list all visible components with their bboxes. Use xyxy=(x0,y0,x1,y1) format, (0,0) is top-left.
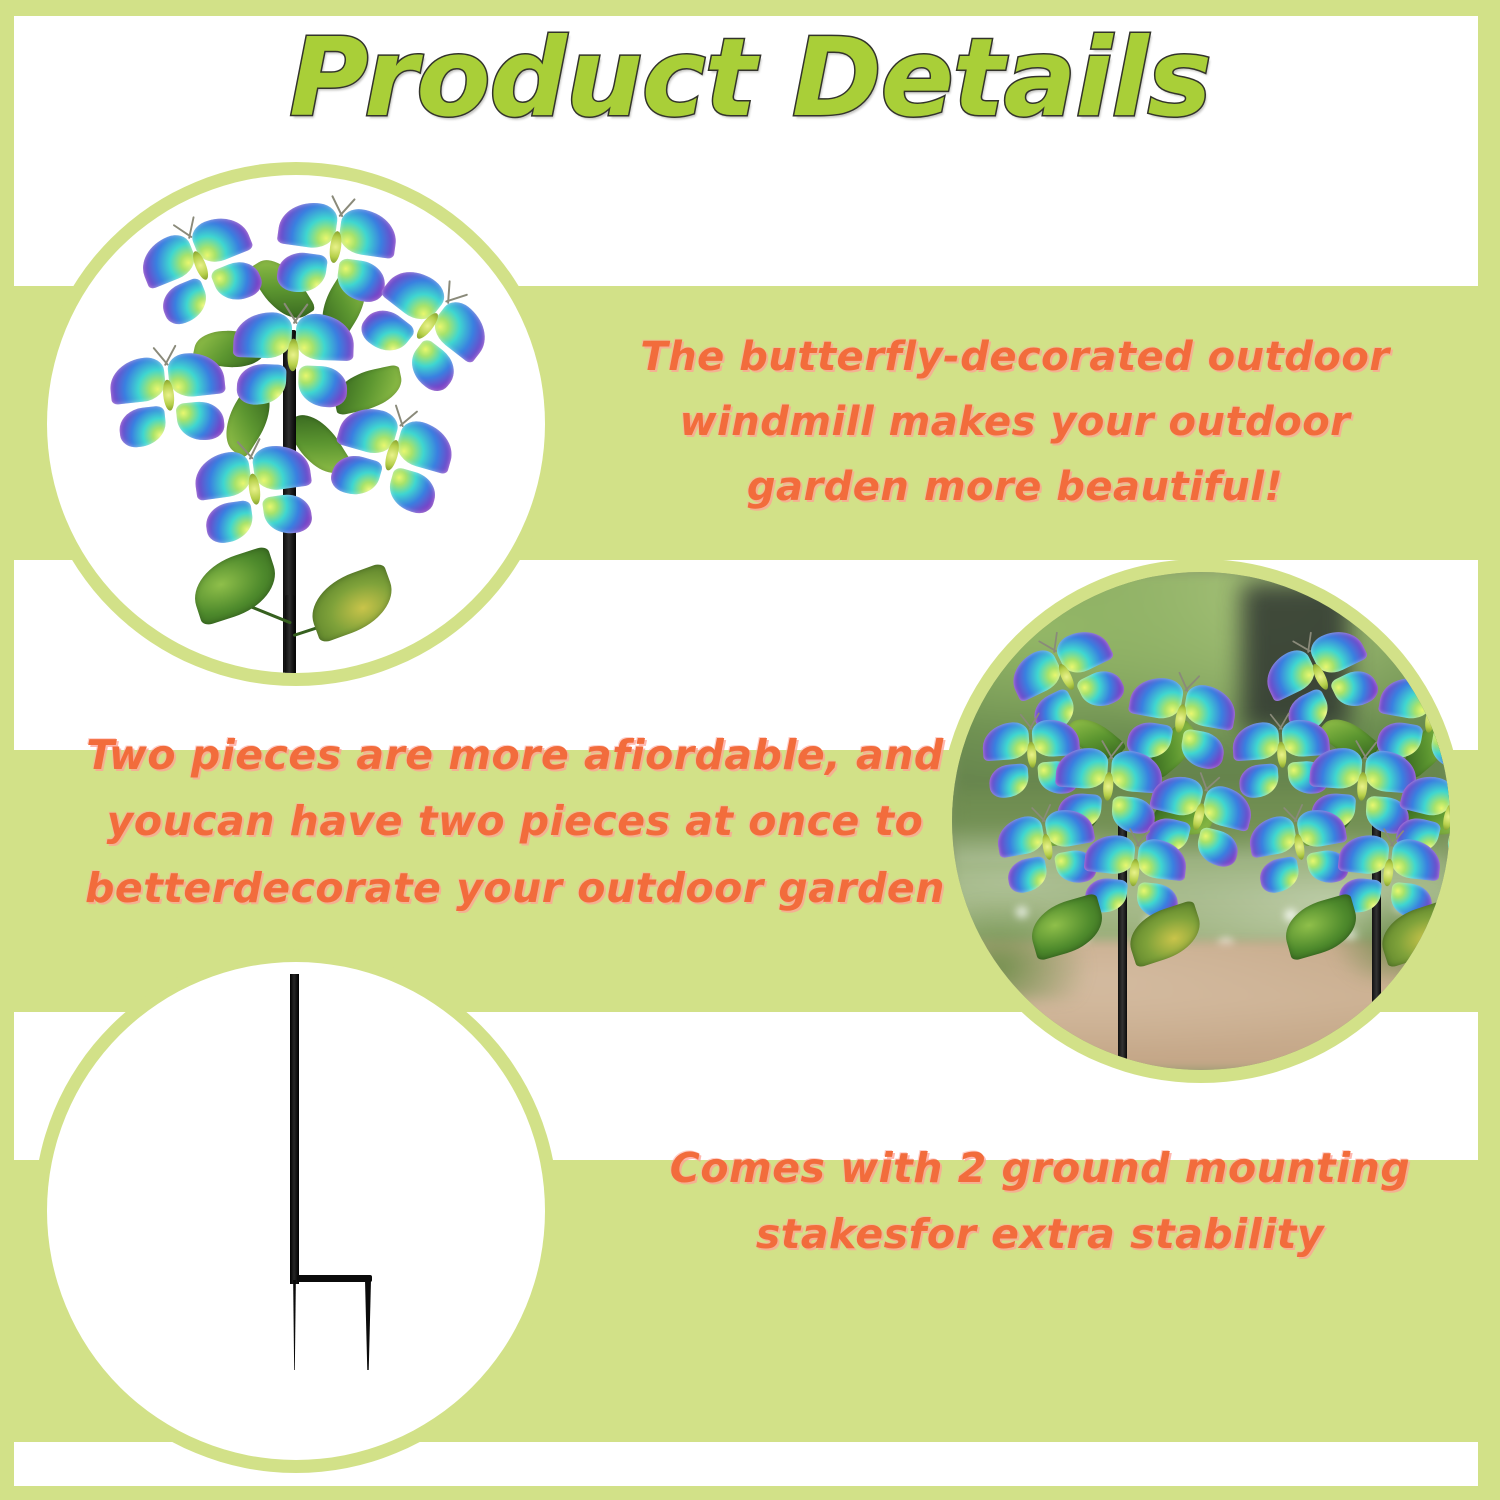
butterfly-wing xyxy=(251,441,312,492)
butterfly-body xyxy=(1356,771,1368,800)
butterfly xyxy=(322,399,460,518)
product-photo-windmill xyxy=(47,175,545,673)
butterfly-wing xyxy=(1084,832,1137,876)
butterfly-wing xyxy=(1246,814,1298,858)
feature-text-windmill: The butterfly-decorated outdoor windmill… xyxy=(600,325,1430,519)
product-photo-mounting-stake xyxy=(47,962,545,1460)
butterfly xyxy=(230,310,356,408)
butterfly-wing xyxy=(1338,832,1391,876)
butterfly-wing xyxy=(297,365,347,407)
butterfly-wing xyxy=(203,500,255,545)
lifestyle-photo-garden xyxy=(952,572,1450,1070)
feature-text-stakes: Comes with 2 ground mounting stakesfor e… xyxy=(640,1135,1440,1268)
butterfly-wing xyxy=(233,311,293,359)
butterfly-body xyxy=(287,338,299,371)
butterfly-wing xyxy=(337,207,400,259)
butterfly xyxy=(190,440,319,546)
butterfly-wing xyxy=(157,276,214,328)
butterfly-wing xyxy=(166,350,226,399)
butterfly-wing xyxy=(108,356,168,405)
butterfly-wing xyxy=(1005,856,1049,895)
butterfly-wing xyxy=(988,763,1030,798)
butterfly-wing xyxy=(295,313,355,361)
windmill-illustration xyxy=(47,175,545,673)
product-details-page: Product Details xyxy=(0,0,1500,1500)
butterfly-wing xyxy=(1136,838,1189,882)
butterfly-wing xyxy=(994,814,1046,858)
lower-leaf xyxy=(302,562,402,644)
page-border-right xyxy=(1478,0,1500,1500)
butterfly-body xyxy=(1102,771,1114,800)
page-border-bottom xyxy=(0,1486,1500,1500)
butterfly-wing xyxy=(118,405,168,448)
butterfly-wing xyxy=(393,417,459,475)
feature-text-two-pieces: Two pieces are more afiordable, and youc… xyxy=(70,722,960,921)
stake-pointed-tip xyxy=(286,1280,303,1370)
butterfly-wing xyxy=(275,249,328,295)
butterfly-wing xyxy=(384,466,440,517)
page-border-left xyxy=(0,0,14,1500)
butterfly-wing xyxy=(981,721,1030,761)
butterfly-wing xyxy=(209,255,266,307)
butterfly-wing xyxy=(1231,721,1280,761)
butterfly-wing xyxy=(1055,746,1109,790)
butterfly-wing xyxy=(1257,856,1301,895)
butterfly-wing xyxy=(1309,746,1363,790)
butterfly-wing xyxy=(175,399,225,442)
butterfly-wing xyxy=(262,491,314,536)
butterfly-wing xyxy=(1399,770,1450,819)
stake-cross-arm xyxy=(297,1275,372,1282)
stake-rod xyxy=(290,974,299,1284)
butterfly-wing xyxy=(1238,763,1280,798)
page-title: Product Details xyxy=(0,22,1500,135)
stake-side-prong xyxy=(365,1280,371,1370)
butterfly-wing xyxy=(192,450,253,501)
butterfly-wing xyxy=(236,363,286,405)
butterfly-wing xyxy=(1390,838,1443,882)
page-border-top xyxy=(0,0,1500,16)
butterfly xyxy=(106,349,231,450)
butterfly-wing xyxy=(328,450,384,501)
butterfly-wing xyxy=(1178,728,1227,771)
